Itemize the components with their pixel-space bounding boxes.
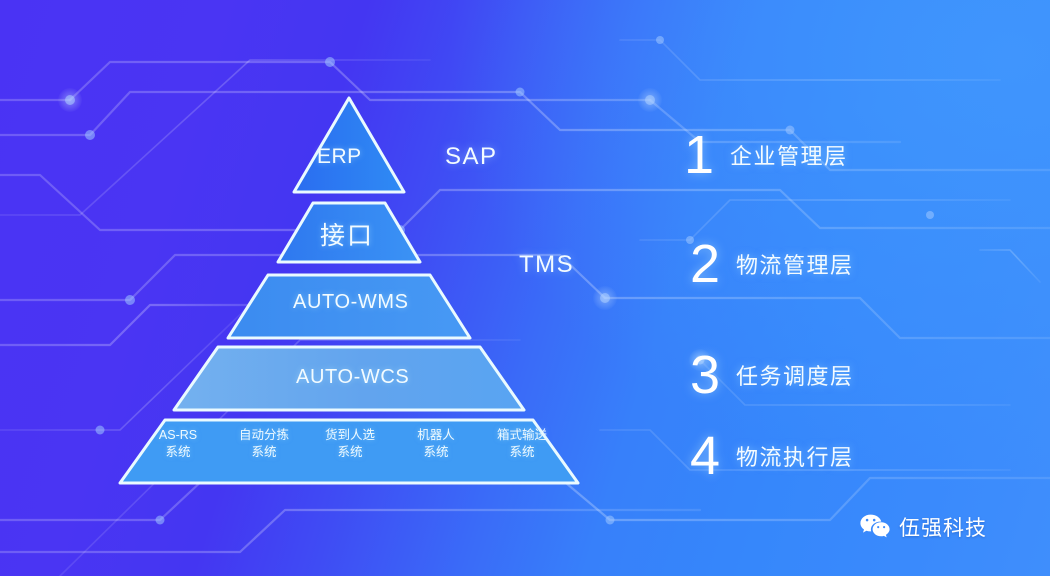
tier-label-auto-wcs: AUTO-WCS (296, 366, 409, 389)
base-cell-line1: 自动分拣 (226, 427, 302, 444)
layer-number-1: 1 (684, 128, 714, 182)
layer-text-2: 物流管理层 (736, 248, 854, 280)
layer-text-1: 企业管理层 (730, 139, 848, 171)
base-cell-as-rs: AS-RS 系统 (140, 427, 216, 461)
wechat-icon (860, 514, 890, 540)
base-cell-line1: 机器人 (398, 427, 474, 444)
tier-label-auto-wms: AUTO-WMS (293, 291, 409, 314)
base-cell-line1: 箱式输送 (484, 427, 560, 444)
layer-list: 1 企业管理层 2 物流管理层 3 任务调度层 4 物流执行层 (672, 0, 1002, 576)
base-cell-line2: 系统 (312, 444, 388, 461)
base-cell-box-conveyor: 箱式输送 系统 (484, 427, 560, 461)
base-cell-line1: 货到人选 (312, 427, 388, 444)
watermark: 伍强科技 (860, 512, 987, 542)
layer-row-4: 4 物流执行层 (690, 429, 854, 483)
slide-canvas: ERP 接口 AUTO-WMS AUTO-WCS AS-RS 系统 自动分拣 系… (0, 0, 1050, 576)
layer-row-3: 3 任务调度层 (690, 348, 854, 402)
base-cell-line2: 系统 (226, 444, 302, 461)
layer-number-3: 3 (690, 348, 720, 402)
tier-label-erp: ERP (317, 145, 362, 169)
side-tag-sap: SAP (445, 143, 498, 171)
base-cell-auto-sorting: 自动分拣 系统 (226, 427, 302, 461)
base-cell-robot: 机器人 系统 (398, 427, 474, 461)
layer-text-3: 任务调度层 (736, 359, 854, 391)
base-cell-goods-to-person: 货到人选 系统 (312, 427, 388, 461)
base-tier-cells: AS-RS 系统 自动分拣 系统 货到人选 系统 机器人 系统 箱式输送 系统 (140, 427, 560, 477)
watermark-text: 伍强科技 (899, 512, 987, 542)
base-cell-line2: 系统 (484, 444, 560, 461)
layer-text-4: 物流执行层 (736, 440, 854, 472)
layer-row-2: 2 物流管理层 (690, 237, 854, 291)
layer-row-1: 1 企业管理层 (684, 128, 848, 182)
layer-number-4: 4 (690, 429, 720, 483)
side-tag-tms: TMS (519, 251, 574, 279)
base-cell-line2: 系统 (140, 444, 216, 461)
tier-label-interface: 接口 (320, 216, 374, 252)
base-cell-line1: AS-RS (140, 427, 216, 444)
layer-number-2: 2 (690, 237, 720, 291)
base-cell-line2: 系统 (398, 444, 474, 461)
